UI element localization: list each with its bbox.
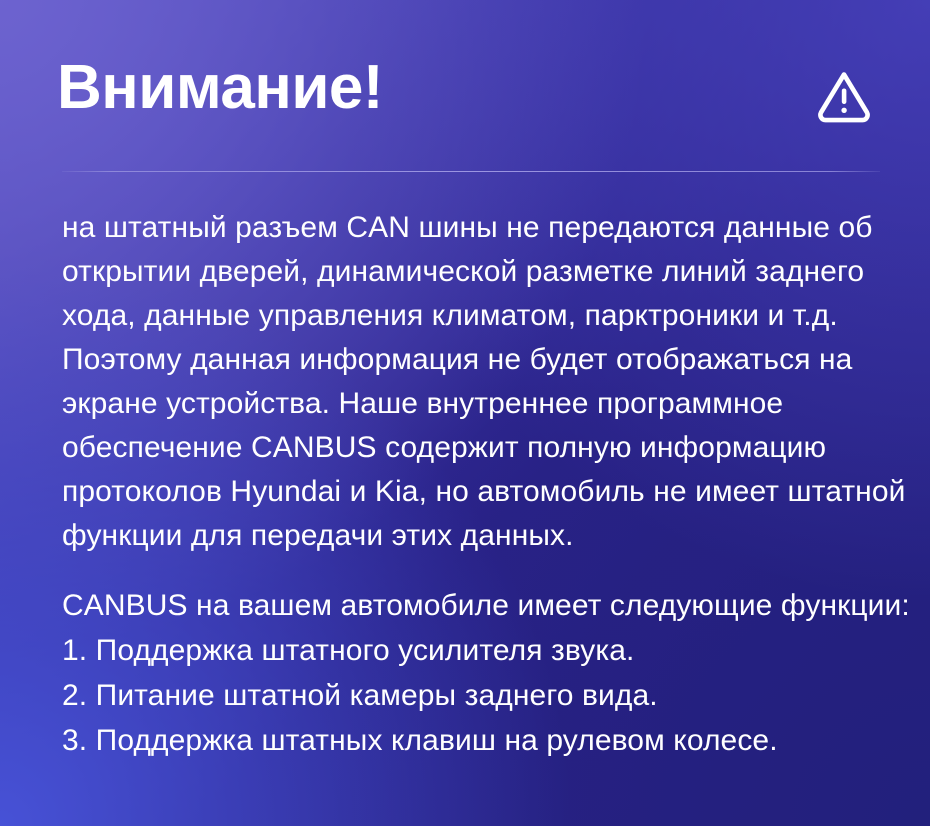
paragraph-line: на штатный разъем CAN шины не передаются… bbox=[62, 206, 892, 250]
paragraph-line: обеспечение CANBUS содержит полную инфор… bbox=[62, 426, 892, 470]
features-list: 1. Поддержка штатного усилителя звука. 2… bbox=[62, 628, 892, 763]
intro-paragraph: на штатный разъем CAN шины не передаются… bbox=[62, 206, 892, 558]
paragraph-line: открытии дверей, динамической разметке л… bbox=[62, 250, 892, 294]
warning-notice-banner: Внимание! на штатный разъем CAN шины не … bbox=[0, 0, 930, 826]
paragraph-line: функции для передачи этих данных. bbox=[62, 514, 892, 558]
list-item: 3. Поддержка штатных клавиш на рулевом к… bbox=[62, 718, 892, 763]
features-heading: CANBUS на вашем автомобиле имеет следующ… bbox=[62, 584, 892, 628]
list-item: 2. Питание штатной камеры заднего вида. bbox=[62, 673, 892, 718]
paragraph-line: Поэтому данная информация не будет отобр… bbox=[62, 338, 892, 382]
banner-content: на штатный разъем CAN шины не передаются… bbox=[62, 206, 892, 763]
page-title: Внимание! bbox=[57, 52, 383, 124]
paragraph-line: хода, данные управления климатом, парктр… bbox=[62, 294, 892, 338]
list-item: 1. Поддержка штатного усилителя звука. bbox=[62, 628, 892, 673]
banner-header: Внимание! bbox=[0, 0, 930, 172]
paragraph-line: экране устройства. Наше внутреннее прогр… bbox=[62, 382, 892, 426]
header-divider bbox=[62, 171, 880, 172]
warning-triangle-icon bbox=[814, 66, 874, 124]
paragraph-line: протоколов Hyundai и Kia, но автомобиль … bbox=[62, 470, 892, 514]
